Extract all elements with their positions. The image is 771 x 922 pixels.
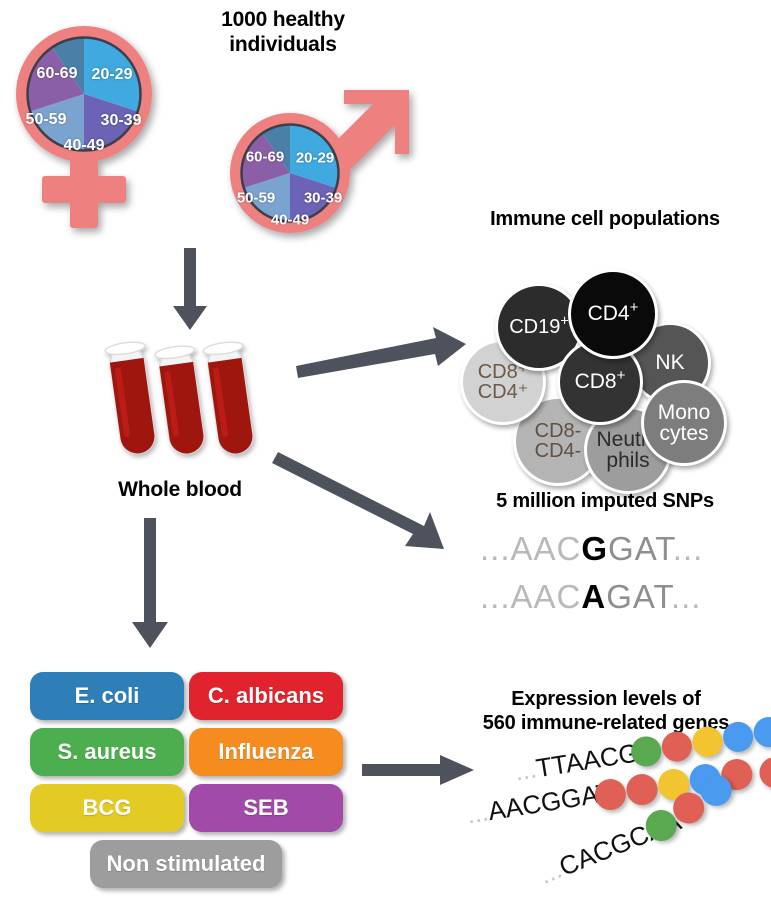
- snp-sequence-block: ...AACGGAT... ...AACAGAT...: [480, 530, 750, 620]
- snp-left: AAC: [511, 578, 582, 615]
- stimulation-s-aureus[interactable]: S. aureus: [30, 728, 184, 776]
- arrow-stimulations-to-expression: [362, 755, 474, 785]
- arrow-blood-to-stimulations: [130, 518, 172, 648]
- figure-canvas: 1000 healthy individuals: [0, 0, 771, 922]
- snp-prefix: ...: [480, 578, 511, 615]
- immune-cell-cluster: CD8⁺ CD4⁺ CD19+ CD4+ NK CD8+ Mono cytes …: [466, 245, 766, 425]
- cell-label: CD8⁺ CD4⁺: [478, 362, 529, 403]
- snp-left: AAC: [511, 530, 582, 567]
- stimulation-e-coli[interactable]: E. coli: [30, 672, 184, 720]
- pill-label: E. coli: [75, 683, 140, 709]
- snp-title: 5 million imputed SNPs: [450, 490, 760, 514]
- arrow-cohort-to-blood: [170, 248, 210, 330]
- stimulation-non-stimulated[interactable]: Non stimulated: [90, 840, 282, 888]
- arrow-blood-to-immune: [296, 330, 466, 382]
- blood-tube: [104, 340, 159, 456]
- snp-suffix: ...: [673, 530, 704, 567]
- snp-prefix: ...: [480, 530, 511, 567]
- expression-title: Expression levels of 560 immune-related …: [448, 688, 764, 735]
- cell-monocytes: Mono cytes: [641, 380, 727, 466]
- pill-label: C. albicans: [208, 683, 324, 709]
- snp-sequence-row: ...AACGGAT...: [480, 530, 703, 568]
- snp-right: GAT: [606, 578, 671, 615]
- cell-label: Mono cytes: [658, 402, 711, 445]
- snp-sequence-row: ...AACAGAT...: [480, 578, 701, 616]
- stimulation-seb[interactable]: SEB: [189, 784, 343, 832]
- snp-variant: A: [581, 578, 606, 615]
- cell-label: CD19+: [509, 317, 569, 337]
- cell-cd4: CD4+: [568, 269, 658, 359]
- pill-label: BCG: [83, 795, 132, 821]
- cell-label: NK: [655, 352, 684, 373]
- female-symbol: 20-29 30-39 40-49 50-59 60-69: [8, 18, 188, 238]
- pill-label: Non stimulated: [107, 851, 266, 877]
- cell-label: CD8- CD4-: [535, 421, 582, 462]
- cohort-title: 1000 healthy individuals: [178, 8, 388, 58]
- immune-title: Immune cell populations: [450, 208, 760, 232]
- stimulation-bcg[interactable]: BCG: [30, 784, 184, 832]
- whole-blood-label: Whole blood: [80, 478, 280, 503]
- male-symbol: 20-29 30-39 40-49 50-59 60-69: [205, 88, 415, 268]
- snp-suffix: ...: [671, 578, 702, 615]
- pill-label: SEB: [243, 795, 288, 821]
- arrow-blood-to-snps: [278, 452, 458, 557]
- cell-label: CD4+: [588, 303, 639, 324]
- blood-tubes-illustration: [95, 338, 285, 468]
- blood-tube: [202, 340, 257, 456]
- pill-label: Influenza: [218, 739, 313, 765]
- stimulation-panel: E. coli C. albicans S. aureus Influenza …: [30, 672, 350, 892]
- blood-tube: [154, 344, 209, 456]
- stimulation-influenza[interactable]: Influenza: [189, 728, 343, 776]
- cell-label: CD8+: [575, 371, 626, 392]
- pill-label: S. aureus: [57, 739, 156, 765]
- snp-right: GAT: [608, 530, 673, 567]
- snp-variant: G: [581, 530, 608, 567]
- stimulation-c-albicans[interactable]: C. albicans: [189, 672, 343, 720]
